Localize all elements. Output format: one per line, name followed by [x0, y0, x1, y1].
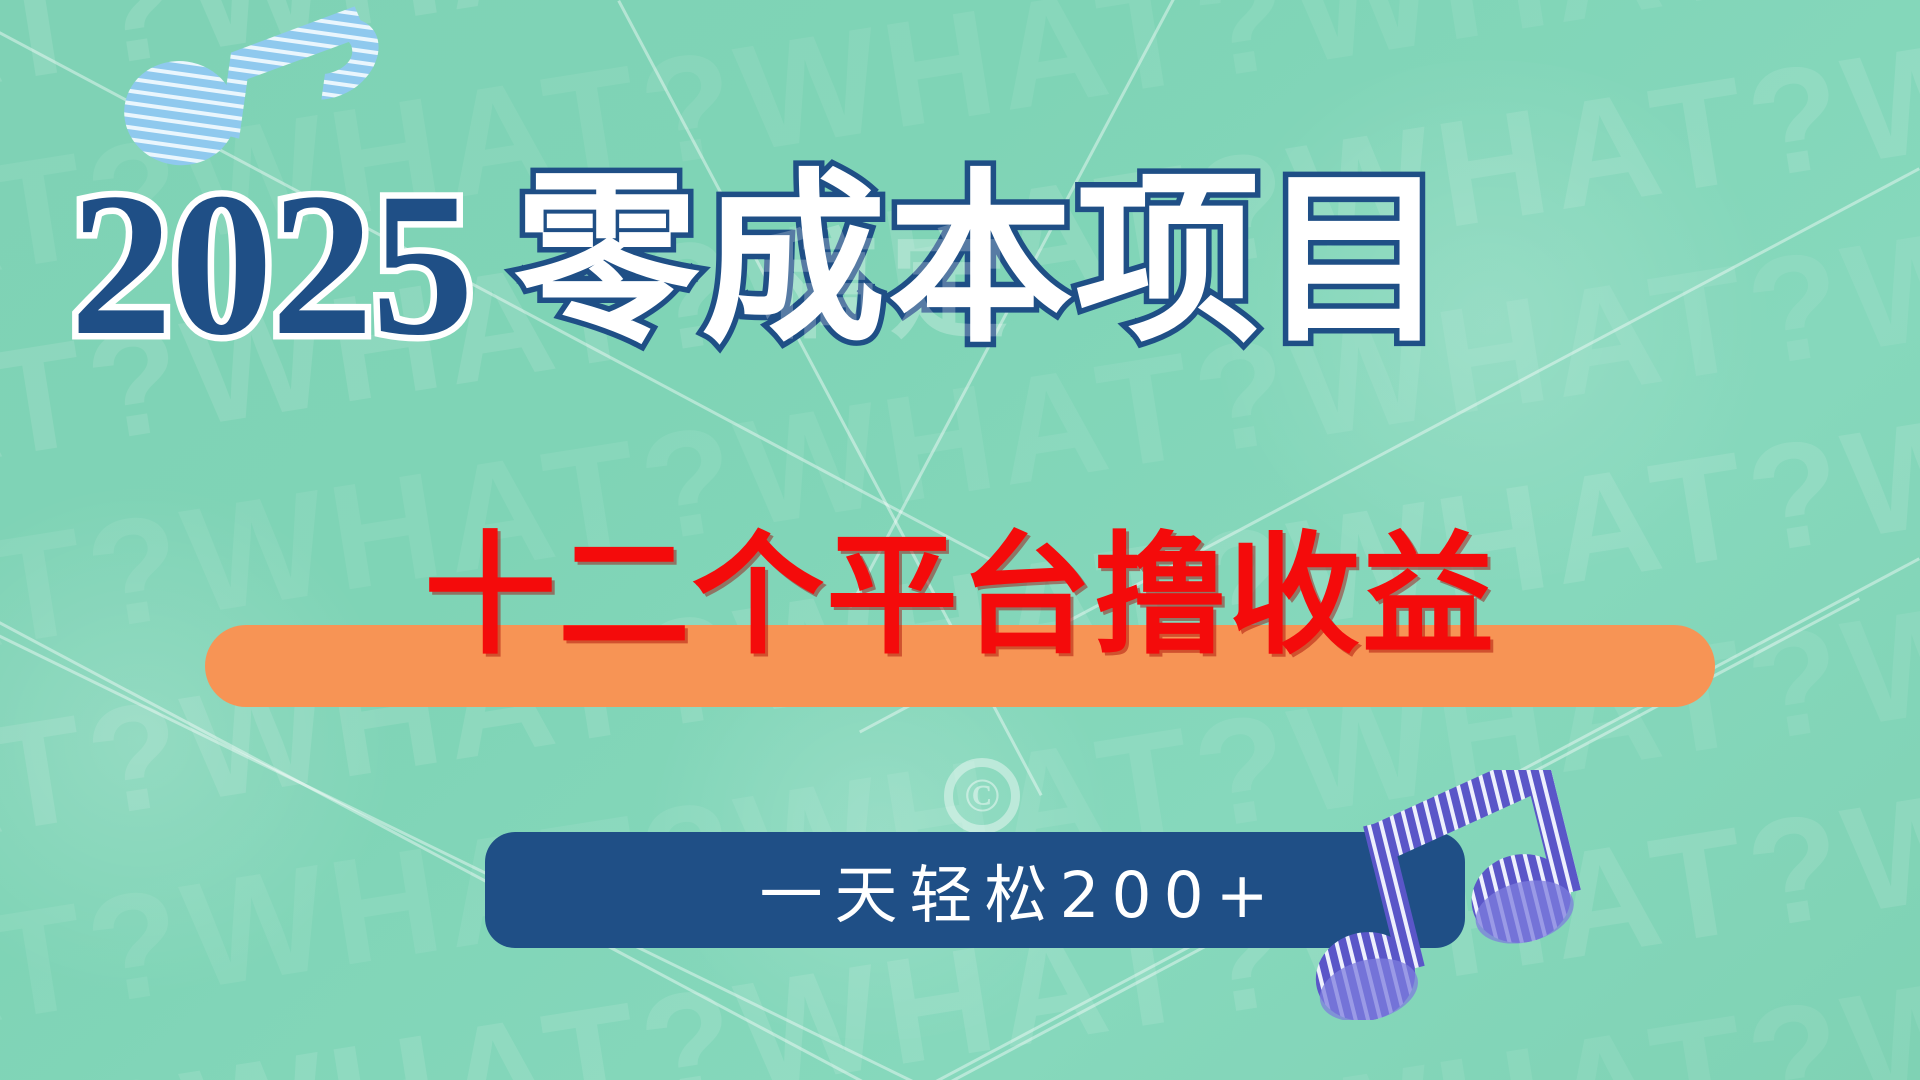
title-block: 2025 零成本项目 [70, 168, 1449, 363]
year-text: 2025 [70, 168, 472, 363]
subtitle-text: 十二个平台撸收益 [0, 525, 1920, 668]
headline-text: 零成本项目 [514, 168, 1449, 353]
copyright-icon: © [944, 758, 1020, 834]
poster-canvas: WHAT?WHAT?WHAT?WHAT?WHAT?WHAT?WHAT?WHAT?… [0, 0, 1920, 1080]
callout-text: 一天轻松200+ [669, 845, 1280, 936]
music-note-icon [1290, 770, 1590, 1020]
